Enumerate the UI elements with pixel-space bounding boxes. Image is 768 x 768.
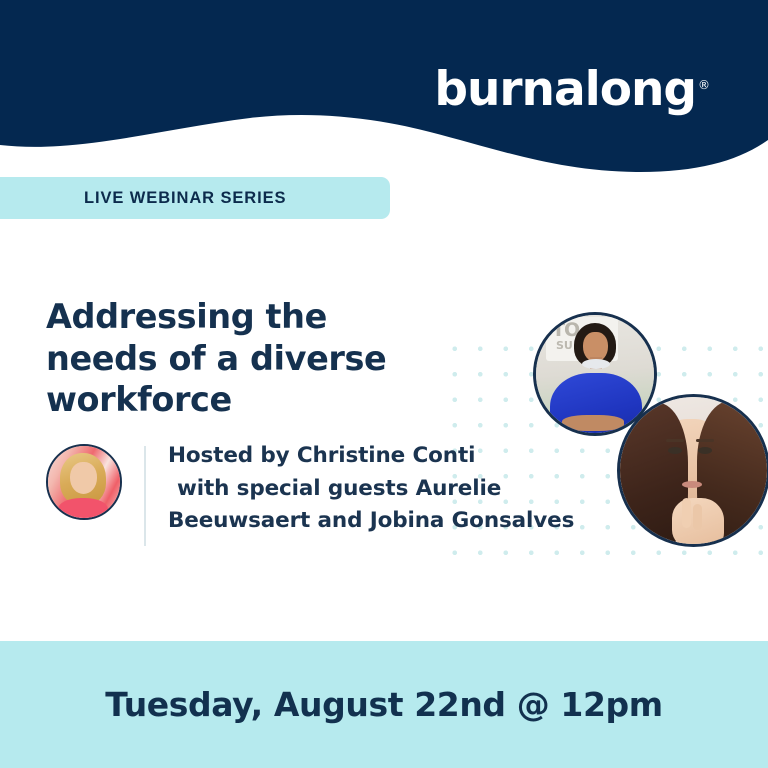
host-avatar-top xyxy=(58,498,108,520)
headline-line-3: workforce xyxy=(46,379,466,421)
badge-label: LIVE WEBINAR SERIES xyxy=(0,189,286,208)
brand-logo: burnalong ® xyxy=(434,66,710,113)
host-divider xyxy=(144,446,146,546)
headline-line-2: needs of a diverse xyxy=(46,338,466,380)
speaker-a-necklace xyxy=(582,359,610,369)
speaker-b-finger-1 xyxy=(682,498,691,528)
registered-trademark-icon: ® xyxy=(698,79,710,91)
speaker-b-finger-2 xyxy=(693,504,702,530)
page-title: Addressing the needs of a diverse workfo… xyxy=(46,296,466,421)
speaker-b-eye-left xyxy=(668,447,682,454)
host-avatar xyxy=(46,444,122,520)
speaker-a-sign-subtext: SU xyxy=(556,339,573,352)
host-line-2: with special guests Aurelie xyxy=(168,473,574,506)
host-line-3: Beeuwsaert and Jobina Gonsalves xyxy=(168,505,574,538)
headline-line-1: Addressing the xyxy=(46,296,466,338)
speaker-avatar-jobina-gonsalves xyxy=(617,394,768,547)
live-webinar-series-badge: LIVE WEBINAR SERIES xyxy=(0,177,390,219)
speaker-b-eye-right xyxy=(698,447,712,454)
webinar-promo-poster: burnalong ® LIVE WEBINAR SERIES Addressi… xyxy=(0,0,768,768)
host-avatar-face xyxy=(70,462,97,494)
event-date-text: Tuesday, August 22nd @ 12pm xyxy=(105,685,663,724)
brand-wordmark: burnalong xyxy=(434,66,696,113)
host-description: Hosted by Christine Conti with special g… xyxy=(168,440,574,538)
host-block: Hosted by Christine Conti with special g… xyxy=(46,440,574,546)
speaker-b-brow-right xyxy=(696,439,714,442)
speaker-b-lips xyxy=(682,481,702,488)
speaker-b-brow-left xyxy=(666,439,684,442)
event-date-banner: Tuesday, August 22nd @ 12pm xyxy=(0,641,768,768)
speaker-a-arms xyxy=(562,415,624,431)
host-line-1: Hosted by Christine Conti xyxy=(168,440,574,473)
